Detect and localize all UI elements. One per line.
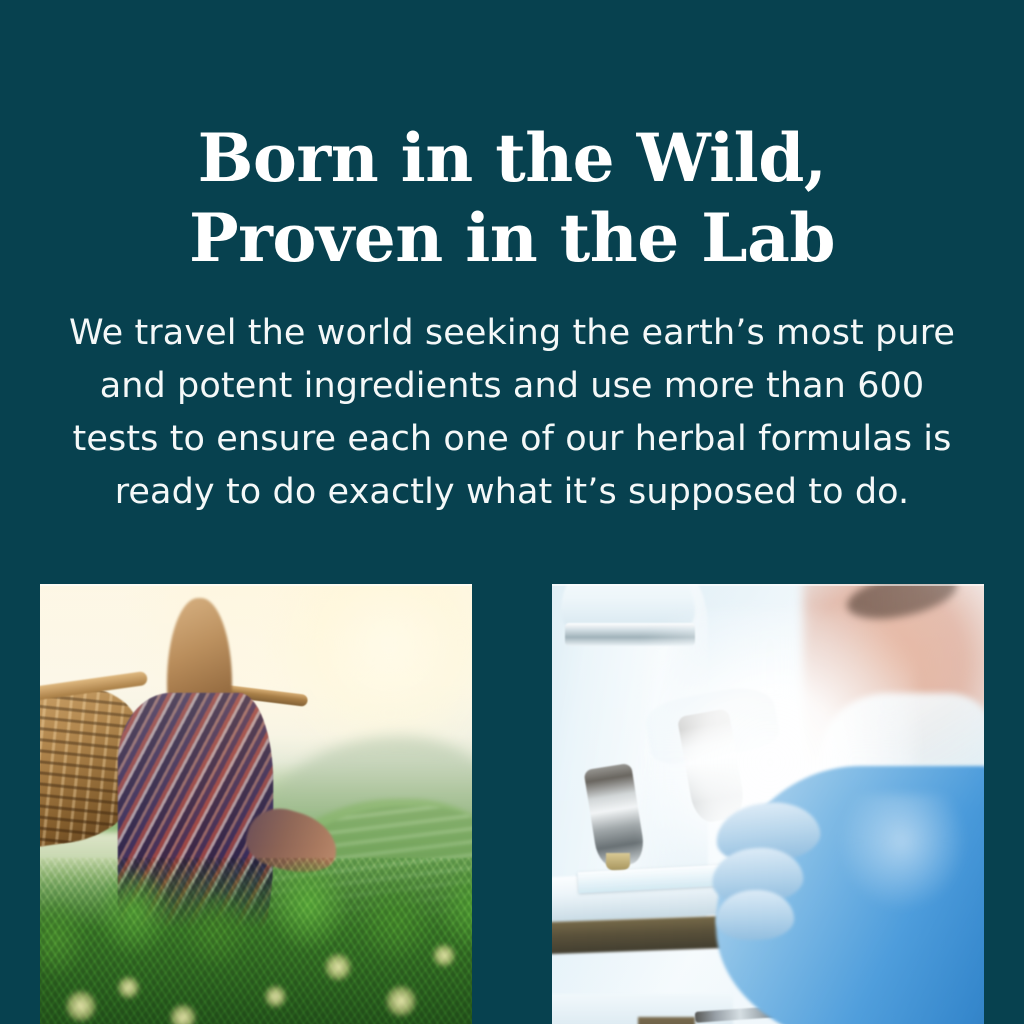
headline-line-2: Proven in the Lab xyxy=(0,198,1024,278)
hero-text-panel: Born in the Wild, Proven in the Lab We t… xyxy=(0,0,1024,568)
bokeh-highlight xyxy=(386,985,416,1017)
microscope-base-shadow xyxy=(638,1017,694,1024)
hero-body-copy: We travel the world seeking the earth’s … xyxy=(62,307,962,519)
glove-highlight xyxy=(837,794,967,913)
marketing-graphic: Born in the Wild, Proven in the Lab We t… xyxy=(0,0,1024,1024)
tea-harvester-photo xyxy=(40,584,472,1024)
page-title: Born in the Wild, Proven in the Lab xyxy=(0,118,1024,278)
bokeh-highlight xyxy=(118,976,140,999)
bokeh-highlight xyxy=(66,990,96,1022)
bokeh-highlight xyxy=(433,944,455,967)
bokeh-highlight xyxy=(325,953,351,980)
objective-lens-tip xyxy=(606,853,630,871)
headline-line-1: Born in the Wild, xyxy=(0,118,1024,198)
bokeh-highlight xyxy=(265,985,287,1008)
photo-strip xyxy=(0,568,1024,1024)
photo-top-edge xyxy=(552,584,984,586)
bokeh-highlight xyxy=(170,1004,196,1024)
photo-top-edge xyxy=(40,584,472,586)
laboratory-microscope-photo xyxy=(552,584,984,1024)
